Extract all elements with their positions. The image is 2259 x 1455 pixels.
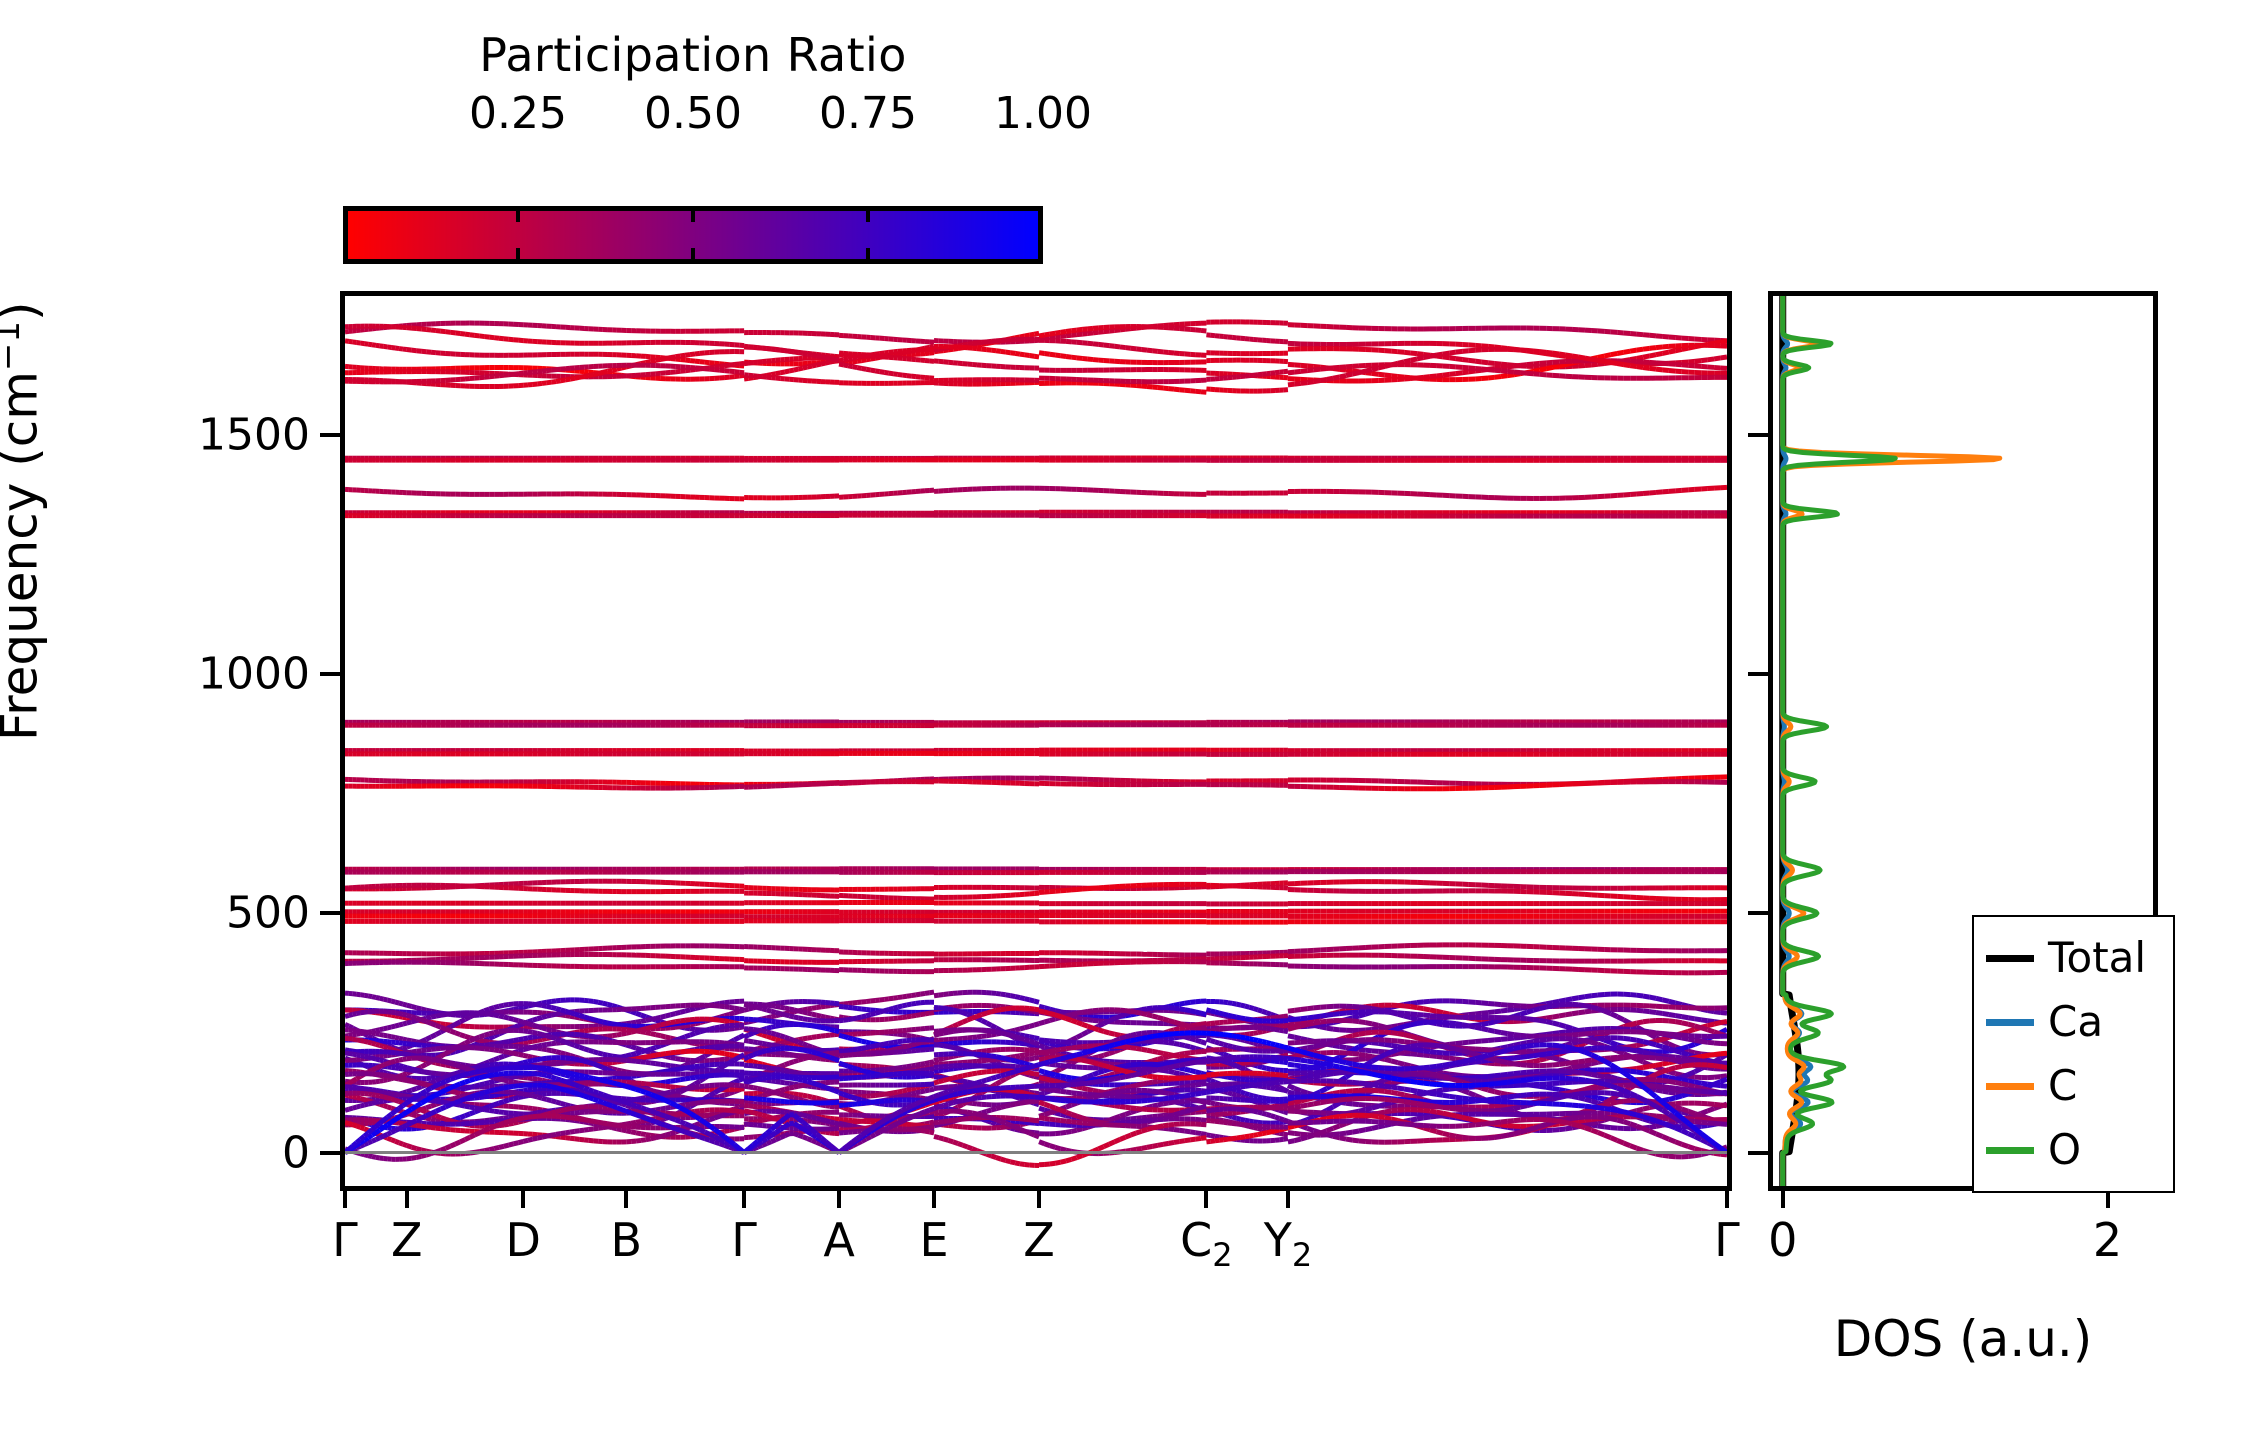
- x-axis-tick: [624, 1186, 628, 1208]
- legend-label: O: [2048, 1129, 2081, 1171]
- y-axis-tick: [320, 433, 342, 437]
- legend-item-ca[interactable]: Ca: [1974, 990, 2173, 1054]
- legend-item-c[interactable]: C: [1974, 1054, 2173, 1118]
- x-axis-tick: [405, 1186, 409, 1208]
- x-axis-tick-label: Y2: [1264, 1213, 1312, 1274]
- figure-canvas: Participation Ratio 0.250.500.751.00 050…: [0, 0, 2259, 1455]
- colorbar-tick-label: 0.50: [644, 88, 742, 139]
- x-axis-tick: [1286, 1186, 1290, 1208]
- band-structure-panel: [340, 291, 1732, 1191]
- legend-label: C: [2048, 1065, 2077, 1107]
- legend-label: Ca: [2048, 1001, 2103, 1043]
- dos-y-axis-tick: [1748, 433, 1770, 437]
- dos-y-axis-tick: [1748, 672, 1770, 676]
- colorbar-tick: [516, 248, 520, 259]
- colorbar-tick: [691, 211, 695, 222]
- x-axis-tick: [932, 1186, 936, 1208]
- x-axis-tick: [837, 1186, 841, 1208]
- legend-label: Total: [2048, 937, 2146, 979]
- x-axis-tick: [521, 1186, 525, 1208]
- colorbar-tick: [691, 248, 695, 259]
- band-structure-curves: [345, 296, 1727, 1186]
- legend-swatch-total: [1986, 955, 2034, 962]
- colorbar-tick-label: 0.25: [469, 88, 567, 139]
- colorbar-tick-label: 1.00: [994, 88, 1092, 139]
- dos-x-axis-tick-label: 2: [2093, 1213, 2122, 1267]
- legend-swatch-ca: [1986, 1019, 2034, 1026]
- colorbar-tick: [866, 248, 870, 259]
- x-axis-tick: [1037, 1186, 1041, 1208]
- y-axis-tick-label: 0: [125, 1127, 310, 1178]
- colorbar: [343, 206, 1043, 264]
- legend-swatch-o: [1986, 1147, 2034, 1154]
- dos-x-axis-label: DOS (a.u.): [1768, 1310, 2158, 1368]
- x-axis-tick-label: Z: [391, 1213, 423, 1267]
- colorbar-tick-labels: 0.250.500.751.00: [343, 88, 1043, 134]
- colorbar-tick: [516, 211, 520, 222]
- x-axis-tick-label: Γ: [1714, 1213, 1740, 1267]
- y-axis-tick: [320, 672, 342, 676]
- x-axis-tick: [1204, 1186, 1208, 1208]
- legend-item-total[interactable]: Total: [1974, 926, 2173, 990]
- dos-legend: TotalCaCO: [1972, 915, 2175, 1193]
- colorbar-title: Participation Ratio: [343, 28, 1043, 82]
- dos-x-axis-tick-label: 0: [1768, 1213, 1797, 1267]
- x-axis-tick-label: Z: [1023, 1213, 1055, 1267]
- x-axis-tick-label: Γ: [731, 1213, 757, 1267]
- x-axis-tick: [1725, 1186, 1729, 1208]
- x-axis-tick-label: A: [823, 1213, 854, 1267]
- band-structure-plot: [345, 296, 1727, 1186]
- x-axis-tick-label: B: [610, 1213, 642, 1267]
- x-axis-tick: [343, 1186, 347, 1208]
- y-axis-tick-label: 500: [125, 888, 310, 939]
- dos-series-c: [1783, 296, 2000, 1186]
- x-axis-tick: [742, 1186, 746, 1208]
- colorbar-tick-label: 0.75: [819, 88, 917, 139]
- x-axis-tick-label: C2: [1180, 1213, 1232, 1274]
- colorbar-tick: [866, 211, 870, 222]
- dos-y-axis-tick: [1748, 1151, 1770, 1155]
- legend-swatch-c: [1986, 1083, 2034, 1090]
- y-axis-label: Frequency (cm−1): [0, 301, 49, 741]
- dos-y-axis-tick: [1748, 911, 1770, 915]
- legend-item-o[interactable]: O: [1974, 1118, 2173, 1182]
- x-axis-tick-label: D: [506, 1213, 541, 1267]
- y-axis-tick-label: 1500: [125, 409, 310, 460]
- x-axis-tick-label: E: [919, 1213, 948, 1267]
- dos-x-axis-tick: [1781, 1186, 1785, 1208]
- y-axis-tick-label: 1000: [125, 649, 310, 700]
- y-axis-tick: [320, 911, 342, 915]
- y-axis-tick: [320, 1151, 342, 1155]
- x-axis-tick-label: Γ: [332, 1213, 358, 1267]
